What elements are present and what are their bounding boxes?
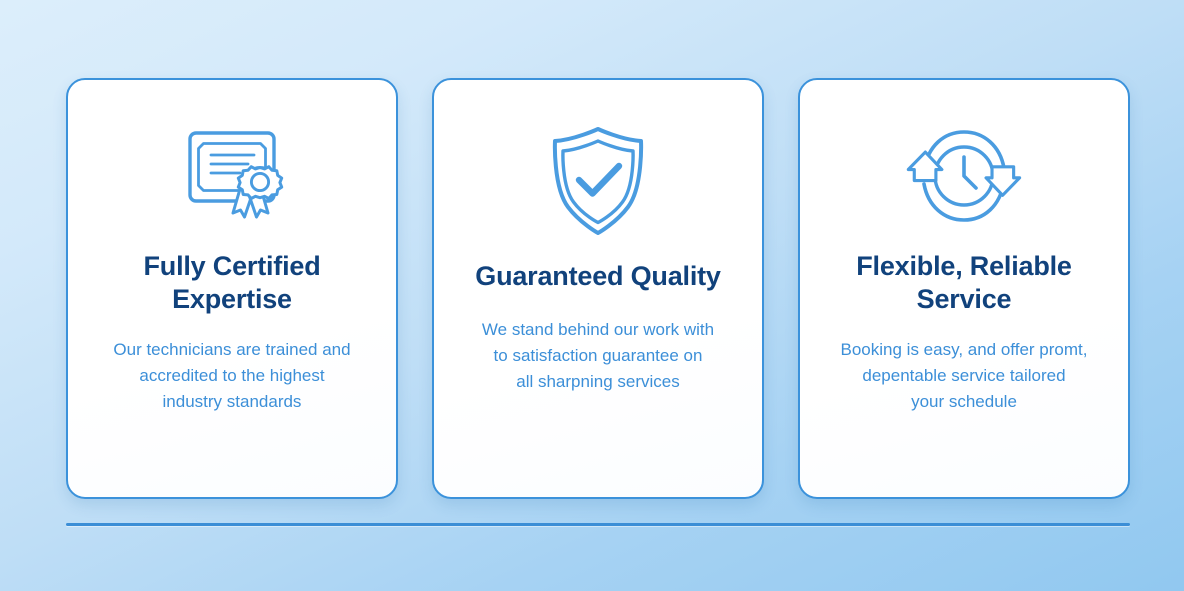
certificate-icon bbox=[178, 116, 286, 238]
feature-card-title: Flexible, Reliable Service bbox=[856, 250, 1072, 317]
title-line: Flexible, Reliable bbox=[856, 251, 1072, 281]
feature-card-title: Guaranteed Quality bbox=[475, 260, 720, 293]
title-line: Fully Certified bbox=[143, 251, 320, 281]
body-line: to satisfaction guarantee on bbox=[494, 346, 703, 365]
feature-cards-section: Fully Certified Expertise Our technician… bbox=[0, 0, 1184, 591]
title-line: Expertise bbox=[172, 284, 292, 314]
body-line: We stand behind our work with bbox=[482, 320, 714, 339]
body-line: depentable service tailored bbox=[862, 366, 1065, 385]
feature-card-description: Our technicians are trained and accredit… bbox=[113, 337, 350, 415]
title-line: Guaranteed Quality bbox=[475, 261, 720, 291]
feature-card-flexible-service[interactable]: Flexible, Reliable Service Booking is ea… bbox=[798, 78, 1130, 499]
shield-check-icon bbox=[546, 116, 650, 246]
feature-card-certified-expertise[interactable]: Fully Certified Expertise Our technician… bbox=[66, 78, 398, 499]
body-line: all sharpning services bbox=[516, 372, 679, 391]
body-line: accredited to the highest bbox=[139, 366, 324, 385]
section-divider bbox=[66, 523, 1130, 526]
feature-card-title: Fully Certified Expertise bbox=[143, 250, 320, 317]
feature-card-description: We stand behind our work with to satisfa… bbox=[482, 317, 714, 395]
feature-cards-row: Fully Certified Expertise Our technician… bbox=[66, 78, 1130, 499]
body-line: Booking is easy, and offer promt, bbox=[841, 340, 1088, 359]
body-line: industry standards bbox=[163, 392, 302, 411]
body-line: Our technicians are trained and bbox=[113, 340, 350, 359]
clock-refresh-icon bbox=[906, 116, 1022, 236]
body-line: your schedule bbox=[911, 392, 1017, 411]
title-line: Service bbox=[917, 284, 1012, 314]
feature-card-guaranteed-quality[interactable]: Guaranteed Quality We stand behind our w… bbox=[432, 78, 764, 499]
feature-card-description: Booking is easy, and offer promt, depent… bbox=[841, 337, 1088, 415]
